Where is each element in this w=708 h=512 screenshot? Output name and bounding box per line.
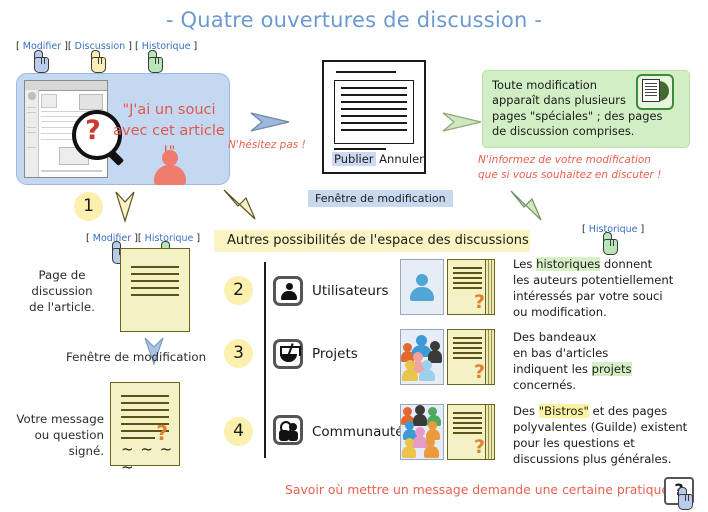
bracket-open: [ xyxy=(86,233,90,244)
bracket-open: [ xyxy=(135,41,139,52)
description-text: Des bandeaux xyxy=(513,330,596,344)
page-title: - Quatre ouvertures de discussion - xyxy=(0,8,708,32)
bracket-close: ] xyxy=(641,224,645,235)
cursor-hand-icon xyxy=(676,487,694,509)
edit-window-caption: Fenêtre de modification xyxy=(308,190,453,207)
description-text: intéressés par votre souci xyxy=(513,289,663,303)
description-text: polyvalentes (Guilde) existent xyxy=(513,420,687,434)
item-label-communaute: Communauté xyxy=(312,424,404,440)
edit-window-mock: Publier Annuler xyxy=(322,60,426,174)
description-text: Des xyxy=(513,404,539,418)
info-line-3: pages "spéciales" ; des pages xyxy=(492,109,662,123)
bracket-open: [ xyxy=(16,41,20,52)
item-label-utilisateurs: Utilisateurs xyxy=(312,283,388,299)
doc-question-mark: ? xyxy=(474,363,485,382)
caption-line-3: de l'article. xyxy=(29,300,95,314)
cursor-hand-icon xyxy=(146,50,164,72)
caption-line-1: Votre message xyxy=(16,412,104,426)
projects-icon[interactable] xyxy=(273,339,303,369)
caption-line-2: ou question xyxy=(35,428,104,442)
description-text: indiquent les xyxy=(513,362,592,376)
cursor-hand-icon xyxy=(89,50,107,72)
description-text: Les xyxy=(513,257,536,271)
discussion-thumbnail: ? xyxy=(447,329,495,385)
arrow-right-blue-icon xyxy=(249,110,293,134)
arrow-right-green-icon xyxy=(441,110,485,134)
description-text: discussions plus générales. xyxy=(513,452,671,466)
doc-question-mark: ? xyxy=(474,293,485,312)
your-message-doc: ? ~ ~ ~ ~ xyxy=(110,382,180,466)
arrow-diagonal-green-icon xyxy=(508,188,546,224)
item-description-2: Les historiques donnentles auteurs poten… xyxy=(513,257,703,321)
caption-line-1: Page de xyxy=(38,268,85,282)
doc-question-mark: ? xyxy=(474,438,485,457)
diagram-canvas: - Quatre ouvertures de discussion - [ Mo… xyxy=(0,0,708,512)
description-text: les auteurs potentiellement xyxy=(513,273,673,287)
user-icon[interactable] xyxy=(273,276,303,306)
step-badge-2: 2 xyxy=(224,276,253,305)
signature-tildes: ~ ~ ~ ~ xyxy=(121,440,179,476)
description-text: ou modification. xyxy=(513,305,607,319)
discussion-thumbnail: ? xyxy=(447,404,495,460)
caption-line-3: signé. xyxy=(69,444,104,458)
users-thumbnail xyxy=(400,259,444,315)
info-line-1: Toute modification xyxy=(492,78,597,92)
projects-thumbnail xyxy=(400,329,444,385)
item-label-projets: Projets xyxy=(312,346,358,362)
publish-button[interactable]: Publier xyxy=(332,152,376,166)
description-text: et des pages xyxy=(589,404,667,418)
community-thumbnail xyxy=(400,404,444,460)
highlight-term: historiques xyxy=(536,257,600,271)
hint-nhesitez-pas: N'hésitez pas ! xyxy=(228,139,306,151)
section-banner-label: Autres possibilités de l'espace des disc… xyxy=(227,233,529,248)
step1-tab-bar: [ Modifier ][ Historique ] xyxy=(86,233,200,244)
description-text: pour les questions et xyxy=(513,436,635,450)
step-badge-4: 4 xyxy=(224,417,253,446)
cursor-hand-icon xyxy=(601,232,619,254)
quote-line-1: "J'ai un souci xyxy=(122,102,215,118)
edit-textarea[interactable] xyxy=(334,80,414,144)
info-line-2: apparaît dans plusieurs xyxy=(492,93,626,107)
special-pages-icon xyxy=(636,74,674,110)
discussion-page-caption: Page de discussion de l'article. xyxy=(14,268,110,316)
bracket-open: [ xyxy=(68,41,72,52)
step-badge-3: 3 xyxy=(224,339,253,368)
arrow-diagonal-yellow-icon xyxy=(222,186,262,222)
your-message-caption: Votre message ou question signé. xyxy=(8,412,104,460)
user-avatar-icon xyxy=(153,150,187,184)
description-text: en bas d'articles xyxy=(513,346,608,360)
community-icon[interactable] xyxy=(273,415,303,445)
list-divider xyxy=(264,262,266,458)
arrow-down-yellow-icon xyxy=(113,190,137,224)
highlight-term: "Bistros" xyxy=(539,404,589,418)
bracket-close: ] xyxy=(193,41,197,52)
step-badge-1: 1 xyxy=(74,192,103,221)
cancel-button[interactable]: Annuler xyxy=(379,152,424,166)
bracket-close: ] xyxy=(128,41,132,52)
step1-mid-caption: Fenêtre de modification xyxy=(66,350,206,366)
discussion-page-doc xyxy=(120,248,190,332)
info-line-4: de discussion comprises. xyxy=(492,124,634,138)
warning-line-2: que si vous souhaitez en discuter ! xyxy=(478,169,661,181)
footer-note: Savoir où mettre un message demande une … xyxy=(285,482,685,497)
section-banner: Autres possibilités de l'espace des disc… xyxy=(214,230,530,252)
bracket-open: [ xyxy=(582,224,586,235)
description-text: donnent xyxy=(600,257,652,271)
description-text: concernés. xyxy=(513,378,576,392)
discussion-thumbnail: ? xyxy=(447,259,495,315)
caption-line-2: discussion xyxy=(31,284,92,298)
bracket-open: [ xyxy=(138,233,142,244)
bracket-close: ] xyxy=(196,233,200,244)
warning-line-1: N'informez de votre modification xyxy=(478,154,651,166)
item-description-3: Des bandeauxen bas d'articlesindiquent l… xyxy=(513,330,703,394)
cursor-hand-icon xyxy=(32,50,50,72)
item-description-4: Des "Bistros" et des pagespolyvalentes (… xyxy=(513,404,703,468)
highlight-term: projets xyxy=(592,362,632,376)
